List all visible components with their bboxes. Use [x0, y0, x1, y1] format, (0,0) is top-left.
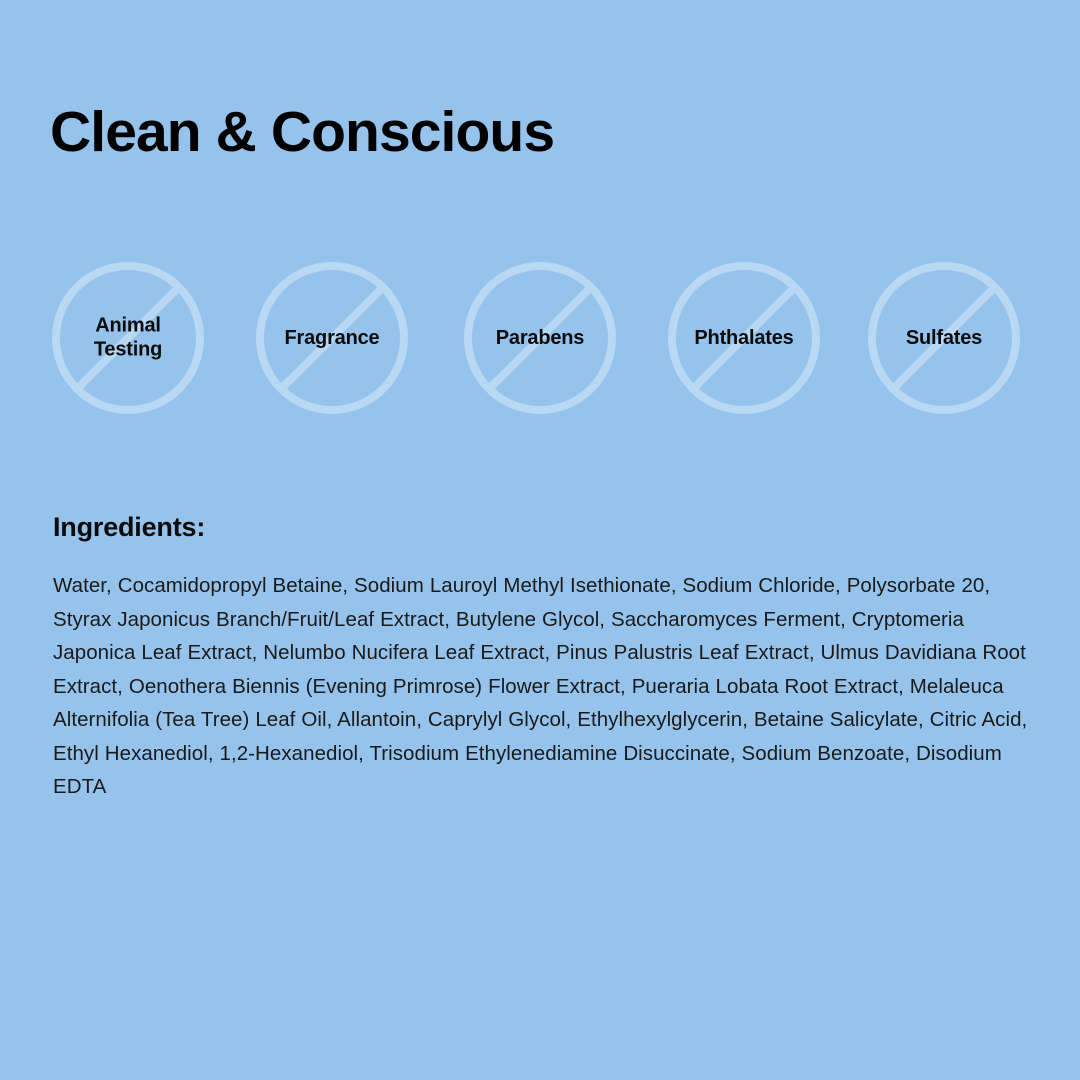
badge-label: Parabens — [496, 326, 584, 350]
badge-label: Fragrance — [285, 326, 380, 350]
badge-phthalates: Phthalates — [668, 262, 820, 414]
free-from-badge-row: Animal Testing Fragrance Parabens Phthal… — [52, 262, 1032, 414]
badge-parabens: Parabens — [464, 262, 616, 414]
page-title: Clean & Conscious — [50, 103, 554, 163]
badge-fragrance: Fragrance — [256, 262, 408, 414]
badge-label: Animal Testing — [94, 314, 162, 363]
badge-label: Sulfates — [906, 326, 982, 350]
ingredients-heading: Ingredients: — [53, 512, 205, 543]
product-info-panel: Clean & Conscious Animal Testing Fragran… — [0, 0, 1080, 1080]
badge-label: Phthalates — [694, 326, 793, 350]
badge-sulfates: Sulfates — [868, 262, 1020, 414]
badge-animal-testing: Animal Testing — [52, 262, 204, 414]
ingredients-list-text: Water, Cocamidopropyl Betaine, Sodium La… — [53, 569, 1028, 804]
